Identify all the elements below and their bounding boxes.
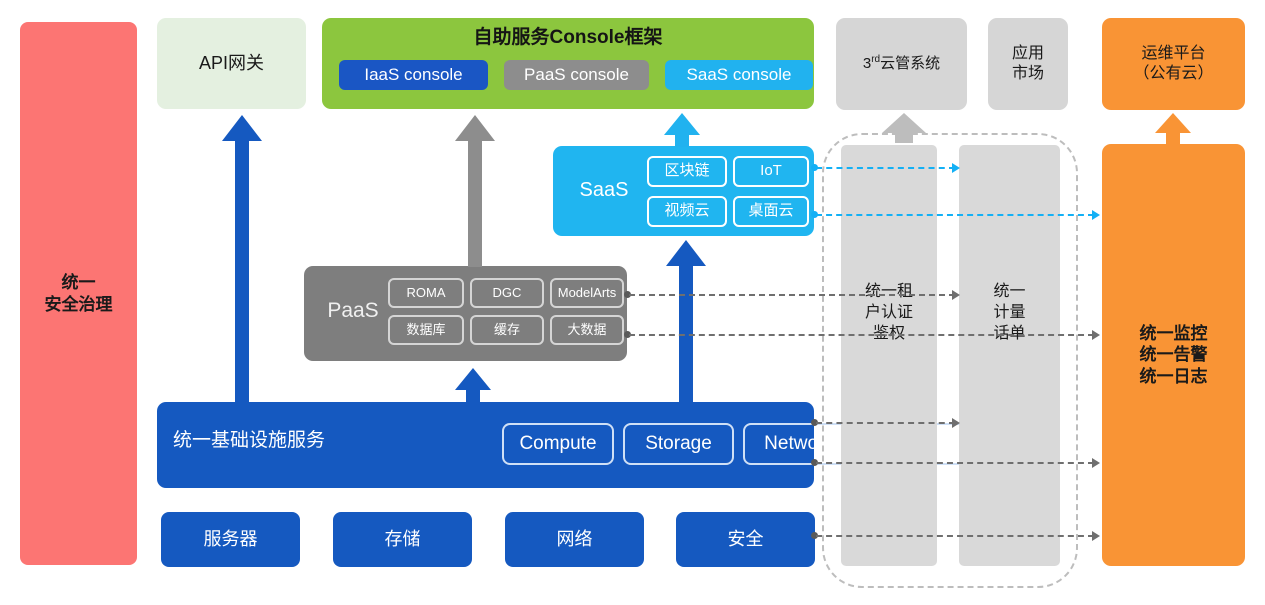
column-unified-metering-billing	[959, 145, 1060, 566]
arrowhead-paas-to-ops	[1092, 330, 1100, 340]
box-third-party-cloud-management: 3rd云管系统	[836, 18, 967, 110]
arrowhead-paas-to-tenant-auth	[952, 290, 960, 300]
box-ops-platform-public-cloud: 运维平台 （公有云）	[1102, 18, 1245, 110]
panel-paas: PaaS ROMA DGC ModelArts 数据库 缓存 大数据	[304, 266, 627, 361]
arrowhead-saas-to-ops	[1092, 210, 1100, 220]
arrowhead-resource-to-ops	[1092, 531, 1100, 541]
arrowhead-saas-to-tenant-auth	[952, 163, 960, 173]
ops-body-line-3: 统一日志	[1140, 366, 1208, 387]
box-resource-storage: 存储	[333, 512, 472, 567]
infrastructure-label: 统一基础设施服务	[173, 429, 325, 453]
panel-unified-monitoring-alarm-log: 统一监控 统一告警 统一日志	[1102, 144, 1245, 566]
dashed-paas-to-ops	[629, 334, 1094, 336]
chip-saas-iot[interactable]: IoT	[733, 156, 809, 187]
ops-top-line-2: （公有云）	[1133, 64, 1213, 84]
panel-console-framework: 自助服务Console框架 IaaS console PaaS console …	[322, 18, 814, 109]
column-unified-tenant-auth	[841, 145, 937, 566]
arrowhead-infra-to-ops	[1092, 458, 1100, 468]
panel-unified-infrastructure-service: 统一基础设施服务 Compute Storage Network CCE	[157, 402, 814, 488]
console-framework-title: 自助服务Console框架	[322, 26, 814, 50]
chip-saas-blockchain[interactable]: 区块链	[647, 156, 727, 187]
dashed-infra-to-ops	[816, 462, 1094, 464]
metering-line-2: 计量	[959, 303, 1060, 324]
third-party-prefix: 3	[863, 55, 871, 72]
saas-label: SaaS	[565, 178, 643, 203]
chip-iaas-console[interactable]: IaaS console	[339, 60, 488, 90]
box-resource-security: 安全	[676, 512, 815, 567]
third-party-suffix: 云管系统	[880, 55, 940, 72]
arrow-infra-to-saas	[666, 240, 706, 403]
arrow-ops-body-to-ops-top	[1155, 113, 1191, 145]
chip-infra-storage[interactable]: Storage	[623, 423, 734, 465]
tenant-auth-line-2: 户认证	[841, 303, 937, 324]
chip-saas-console[interactable]: SaaS console	[665, 60, 813, 90]
chip-paas-roma[interactable]: ROMA	[388, 278, 464, 308]
box-api-gateway: API网关	[157, 18, 306, 109]
arrowhead-infra-to-tenant-auth	[952, 418, 960, 428]
chip-paas-bigdata[interactable]: 大数据	[550, 315, 624, 345]
arrow-infra-to-paas	[455, 368, 491, 403]
arrow-shared-to-third-party	[882, 113, 926, 143]
chip-infra-compute[interactable]: Compute	[502, 423, 614, 465]
ops-top-line-1: 运维平台	[1133, 44, 1213, 64]
third-party-superscript: rd	[871, 54, 880, 65]
box-app-market: 应用 市场	[988, 18, 1068, 110]
paas-label: PaaS	[314, 298, 392, 324]
governance-line-2: 安全治理	[45, 294, 113, 315]
panel-unified-security-governance: 统一 安全治理	[20, 22, 137, 565]
ops-body-line-1: 统一监控	[1140, 323, 1208, 344]
dashed-saas-to-ops	[816, 214, 1094, 216]
arrow-infra-to-api-gateway	[222, 115, 262, 403]
metering-line-1: 统一	[959, 282, 1060, 303]
panel-saas: SaaS 区块链 IoT 视频云 桌面云	[553, 146, 814, 236]
dashed-resource-to-ops	[816, 535, 1094, 537]
chip-saas-video-cloud[interactable]: 视频云	[647, 196, 727, 227]
chip-paas-database[interactable]: 数据库	[388, 315, 464, 345]
dashed-saas-to-tenant-auth	[816, 167, 955, 169]
ops-body-line-2: 统一告警	[1140, 344, 1208, 365]
app-market-line-1: 应用	[1012, 44, 1044, 64]
dashed-infra-to-tenant-auth	[816, 422, 955, 424]
chip-paas-cache[interactable]: 缓存	[470, 315, 544, 345]
box-resource-network: 网络	[505, 512, 644, 567]
tenant-auth-line-1: 统一租	[841, 282, 937, 303]
chip-paas-dgc[interactable]: DGC	[470, 278, 544, 308]
architecture-diagram: 统一 安全治理 API网关 自助服务Console框架 IaaS console…	[0, 0, 1265, 605]
chip-paas-console[interactable]: PaaS console	[504, 60, 649, 90]
chip-paas-modelarts[interactable]: ModelArts	[550, 278, 624, 308]
governance-line-1: 统一	[45, 272, 113, 293]
box-resource-server: 服务器	[161, 512, 300, 567]
app-market-line-2: 市场	[1012, 64, 1044, 84]
arrow-saas-to-console	[664, 113, 700, 147]
arrow-paas-to-console	[455, 115, 495, 267]
chip-saas-desktop-cloud[interactable]: 桌面云	[733, 196, 809, 227]
dashed-paas-to-tenant-auth	[629, 294, 955, 296]
